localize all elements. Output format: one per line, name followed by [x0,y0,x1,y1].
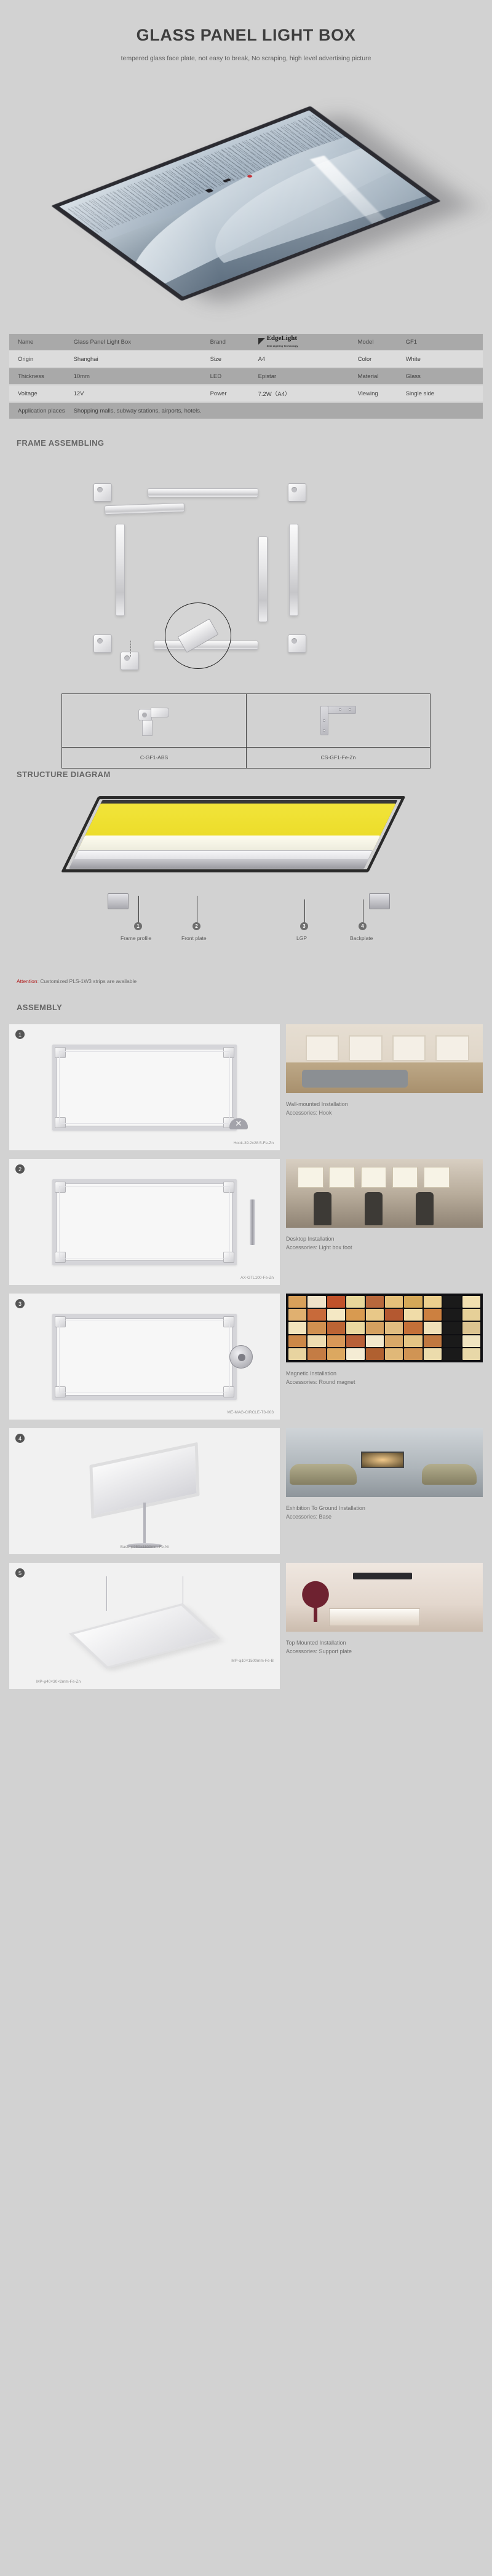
menu-tile [385,1335,403,1347]
callout-number-1: 1 [134,922,142,930]
callout-line-1 [138,896,139,923]
menu-tile [327,1322,345,1333]
callout-line [130,641,131,657]
section-heading-assembly: ASSEMBLY [9,984,483,1021]
part-cell-abs-corner: C-GF1-ABS [62,694,246,768]
assembly-part-code-wire: MP-φ10×1500mm-Fe-B [231,1659,274,1663]
spec-label: Thickness [9,368,65,384]
screw-hole [323,729,325,732]
assembly-step-number: 5 [15,1568,25,1578]
menu-tile [366,1322,384,1333]
spec-label: Name [9,334,65,350]
installation-photo-desktop [286,1159,483,1228]
spec-label: Power [202,385,250,401]
menu-tile [288,1322,306,1333]
menu-tile [346,1309,364,1321]
structure-foot [108,893,129,909]
spec-label: Origin [9,351,65,367]
part-segment [142,720,153,736]
assembly-accessories: Accessories: Round magnet [286,1378,483,1387]
assembly-info-panel: Desktop Installation Accessories: Light … [286,1159,483,1285]
corner-connector [93,634,112,653]
assembly-diagram-panel: 2 AX-GTL100-Fe-Zn [9,1159,280,1285]
spec-value: Shopping malls, subway stations, airport… [65,403,483,419]
menu-tile [462,1322,480,1333]
attention-label: Attention [17,978,38,984]
menu-tile [404,1348,422,1360]
ceiling-mounted-lightbox [353,1573,412,1579]
assembly-title: Exhibition To Ground Installation [286,1504,483,1513]
menu-tile [327,1296,345,1308]
photo-scene-shop-counter [286,1159,483,1228]
assembly-info-panel: Exhibition To Ground Installation Access… [286,1428,483,1554]
suspension-wire [106,1576,107,1611]
menu-panel [361,1167,387,1188]
corner-connector [93,483,112,502]
corner-connector [121,652,139,670]
light-box-foot-accessory-icon [250,1199,255,1245]
menu-tile [366,1335,384,1347]
hero-section: GLASS PANEL LIGHT BOX tempered glass fac… [0,0,492,62]
spec-value: Glass [397,368,483,384]
display-counter [329,1608,419,1626]
callout-label-1: Frame profile [121,935,151,941]
person-silhouette [365,1192,383,1225]
installation-photo-magnetic [286,1294,483,1362]
assembly-title: Wall-mounted Installation [286,1100,483,1109]
part-code-label: CS-GF1-Fe-Zn [247,747,430,768]
assembly-caption: Top Mounted Installation Accessories: Su… [286,1639,483,1656]
frame-profile-bar-extra [105,503,184,515]
spec-value: GF1 [397,334,483,350]
assembly-diagram-panel: 1 ✕ Hook-39.2x28.5-Fe-Zn [9,1024,280,1150]
menu-tile [404,1322,422,1333]
menu-tile [462,1309,480,1321]
menu-tile [443,1322,461,1333]
callout-number-3: 3 [300,922,308,930]
magnified-profile-section [178,618,219,653]
menu-panel [424,1167,450,1188]
specification-table: Name Glass Panel Light Box Brand EdgeLig… [9,333,483,420]
round-magnet-accessory-icon [229,1345,253,1369]
photo-scene-menu-board-wall [286,1294,483,1362]
menu-tile [307,1309,325,1321]
assembly-caption: Desktop Installation Accessories: Light … [286,1235,483,1252]
brand-name: EdgeLight [267,334,298,342]
logo-mark-icon [258,338,265,345]
photo-scene-retail-interior [286,1563,483,1632]
callout-number-4: 4 [359,922,367,930]
edgelight-logo: EdgeLight Slim Lighting Technology [258,335,298,349]
frame-illustration [52,1045,237,1131]
menu-tile [443,1348,461,1360]
assembly-title: Top Mounted Installation [286,1639,483,1648]
corner-connector [55,1182,66,1193]
assembly-accessories: Accessories: Light box foot [286,1244,483,1252]
spec-value: 12V [65,385,202,401]
menu-tile [288,1296,306,1308]
assembly-part-code: AX-GTL100-Fe-Zn [240,1276,274,1280]
part-segment [151,708,169,717]
sofa [302,1070,408,1088]
stand-pole [143,1503,146,1546]
photo-scene-auto-expo [286,1428,483,1497]
structure-foot [369,893,390,909]
menu-tile [327,1348,345,1360]
spec-label: Material [349,368,397,384]
menu-tile [307,1348,325,1360]
layer-frame-profile [61,796,405,872]
spec-value: Single side [397,385,483,401]
menu-tile [346,1348,364,1360]
assembly-accessories: Accessories: Hook [286,1109,483,1118]
spec-value: Glass Panel Light Box [65,334,202,350]
corner-connector [55,1117,66,1128]
magnifier-detail-circle [165,603,231,669]
callout-number-2: 2 [192,922,200,930]
menu-tile [443,1309,461,1321]
menu-tile [346,1296,364,1308]
l-bracket-part-icon [320,706,356,735]
menu-tile [327,1309,345,1321]
menu-tile [307,1322,325,1333]
table-row: Thickness 10mm LED Epistar Material Glas… [9,368,483,384]
page-subtitle: tempered glass face plate, not easy to b… [0,55,492,62]
spec-label: Brand [202,334,250,350]
spec-label: Size [202,351,250,367]
car [422,1464,477,1485]
assembly-row-5: 5 MP-φ10×1500mm-Fe-B MP-φ40×30×2mm-Fe-Zn… [9,1563,483,1689]
menu-panel [329,1167,355,1188]
suspended-lightbox-illustration [69,1603,220,1669]
person-silhouette [416,1192,434,1225]
menu-tile [404,1309,422,1321]
menu-panel [298,1167,323,1188]
part-code-label: C-GF1-ABS [62,747,246,768]
assembly-row-1: 1 ✕ Hook-39.2x28.5-Fe-Zn W [9,1024,483,1150]
assembly-part-code-plate: MP-φ40×30×2mm-Fe-Zn [36,1680,81,1684]
callout-label-2: Front plate [181,935,207,941]
spec-value: Epistar [250,368,349,384]
menu-tile [424,1322,442,1333]
menu-tile [404,1296,422,1308]
assembly-row-2: 2 AX-GTL100-Fe-Zn [9,1159,483,1285]
corner-connector [223,1316,234,1327]
corner-connector [223,1182,234,1193]
screw-hole [323,719,325,722]
menu-tile [424,1296,442,1308]
assembly-list: 1 ✕ Hook-39.2x28.5-Fe-Zn W [9,1024,483,1689]
wall-art [435,1035,469,1062]
corner-connector [288,634,306,653]
brand-logo-cell: EdgeLight Slim Lighting Technology [250,334,349,350]
product-hero-image [0,68,492,333]
spec-value: Shanghai [65,351,202,367]
menu-tile [385,1309,403,1321]
corner-connector [288,483,306,502]
screw-hole [349,708,351,711]
corner-connector [223,1386,234,1397]
menu-tile [366,1348,384,1360]
assembly-accessories: Accessories: Base [286,1513,483,1522]
callout-line-4 [363,899,363,923]
display-artwork [59,111,432,297]
menu-tile [385,1296,403,1308]
wall-art [392,1035,426,1062]
menu-tile [424,1348,442,1360]
spec-label: Application places [9,403,65,419]
table-row: Application places Shopping malls, subwa… [9,403,483,419]
corner-connector [223,1047,234,1058]
assembly-diagram-panel: 5 MP-φ10×1500mm-Fe-B MP-φ40×30×2mm-Fe-Zn [9,1563,280,1689]
assembly-info-panel: Wall-mounted Installation Accessories: H… [286,1024,483,1150]
abs-corner-part-icon [138,705,170,736]
assembly-row-3: 3 ME-MAG-CIRCLE-T3-003 Ma [9,1294,483,1420]
assembly-row-4: 4 Base-φ250×1100mm-Fe-Ni Exhibition To G… [9,1428,483,1554]
corner-connector [55,1316,66,1327]
floor-standing-lightbox [361,1452,404,1468]
part-hole [142,713,147,717]
spec-table-body: Name Glass Panel Light Box Brand EdgeLig… [9,334,483,419]
assembly-info-panel: Magnetic Installation Accessories: Round… [286,1294,483,1420]
assembly-caption: Magnetic Installation Accessories: Round… [286,1370,483,1387]
assembly-part-code: Hook-39.2x28.5-Fe-Zn [234,1141,274,1145]
menu-tile [288,1348,306,1360]
menu-tile [385,1348,403,1360]
table-row: Name Glass Panel Light Box Brand EdgeLig… [9,334,483,350]
spec-value: 7.2W（A4） [250,385,349,401]
menu-tile [424,1335,442,1347]
wall-art [306,1035,339,1062]
assembly-step-number: 4 [15,1434,25,1443]
table-row: Origin Shanghai Size A4 Color White [9,351,483,367]
car [290,1464,357,1485]
corner-connector [223,1252,234,1263]
corner-connector [55,1386,66,1397]
structure-diagram: 1 2 3 4 Frame profile Front plate LGP Ba… [0,788,492,978]
frame-illustration [52,1314,237,1400]
frame-profile-bar-left [116,524,125,616]
table-row: Voltage 12V Power 7.2W（A4） Viewing Singl… [9,385,483,401]
menu-tile [424,1309,442,1321]
frame-illustration [52,1179,237,1265]
frame-profile-bar-extra2 [258,536,268,622]
wall-art [349,1035,382,1062]
menu-tile [462,1296,480,1308]
assembly-step-number: 1 [15,1030,25,1039]
assembly-part-code: Base-φ250×1100mm-Fe-Ni [121,1545,169,1549]
person-silhouette [314,1192,331,1225]
frame-profile-bar-top [148,488,258,497]
menu-tile [346,1322,364,1333]
attention-text: : Customized PLS-1W3 strips are availabl… [38,978,137,984]
menu-panel [392,1167,418,1188]
spec-label: Color [349,351,397,367]
assembly-step-number: 2 [15,1164,25,1174]
menu-tile [307,1296,325,1308]
installation-photo-exhibition [286,1428,483,1497]
assembly-step-number: 3 [15,1299,25,1308]
lightbox-device [52,106,440,301]
assembly-caption: Exhibition To Ground Installation Access… [286,1504,483,1522]
menu-tile [443,1296,461,1308]
installation-photo-top-mounted [286,1563,483,1632]
menu-tile [366,1296,384,1308]
hook-cross-glyph: ✕ [235,1119,242,1128]
frame-assembly-diagram: C-GF1-ABS CS-GF1-Fe-Zn [0,456,492,751]
corner-connector [55,1047,66,1058]
attention-note: Attention: Customized PLS-1W3 strips are… [9,978,483,984]
assembly-diagram-panel: 4 Base-φ250×1100mm-Fe-Ni [9,1428,280,1554]
installation-photo-wall-mounted [286,1024,483,1093]
hook-accessory-icon: ✕ [229,1118,248,1129]
corner-connector [55,1252,66,1263]
callout-line-3 [304,899,305,923]
lightbox-3d-wrapper [52,106,440,301]
spec-label: Viewing [349,385,397,401]
menu-tile [443,1335,461,1347]
menu-tile [288,1309,306,1321]
assembly-info-panel: Top Mounted Installation Accessories: Su… [286,1563,483,1689]
menu-tile [385,1322,403,1333]
spec-label: LED [202,368,250,384]
part-illustration [62,694,246,747]
frame-parts-grid: C-GF1-ABS CS-GF1-Fe-Zn [61,693,430,768]
section-heading-frame-assembling: FRAME ASSEMBLING [9,420,483,456]
part-illustration [247,694,430,747]
assembly-accessories: Accessories: Support plate [286,1648,483,1656]
spec-value: A4 [250,351,349,367]
menu-tile [404,1335,422,1347]
spec-label: Model [349,334,397,350]
assembly-caption: Wall-mounted Installation Accessories: H… [286,1100,483,1118]
assembly-title: Magnetic Installation [286,1370,483,1378]
assembly-part-code: ME-MAG-CIRCLE-T3-003 [228,1410,274,1415]
callout-line-2 [197,896,197,923]
photo-scene-living-room [286,1024,483,1093]
menu-tile [288,1335,306,1347]
assembly-diagram-panel: 3 ME-MAG-CIRCLE-T3-003 [9,1294,280,1420]
spec-label: Voltage [9,385,65,401]
page-title: GLASS PANEL LIGHT BOX [0,26,492,45]
menu-tile [462,1335,480,1347]
layer-stack [57,800,422,892]
part-cell-l-bracket: CS-GF1-Fe-Zn [246,694,430,768]
callout-label-4: Backplate [350,935,373,941]
spec-value: 10mm [65,368,202,384]
menu-tile [327,1335,345,1347]
logo-text: EdgeLight Slim Lighting Technology [267,335,298,349]
menu-tile [307,1335,325,1347]
brand-tagline: Slim Lighting Technology [267,344,298,347]
assembly-title: Desktop Installation [286,1235,483,1244]
callout-label-3: LGP [296,935,307,941]
screw-hole [339,708,341,711]
menu-tile [366,1309,384,1321]
frame-profile-bar-right [289,524,298,616]
menu-tile [462,1348,480,1360]
menu-tile [346,1335,364,1347]
spec-value: White [397,351,483,367]
